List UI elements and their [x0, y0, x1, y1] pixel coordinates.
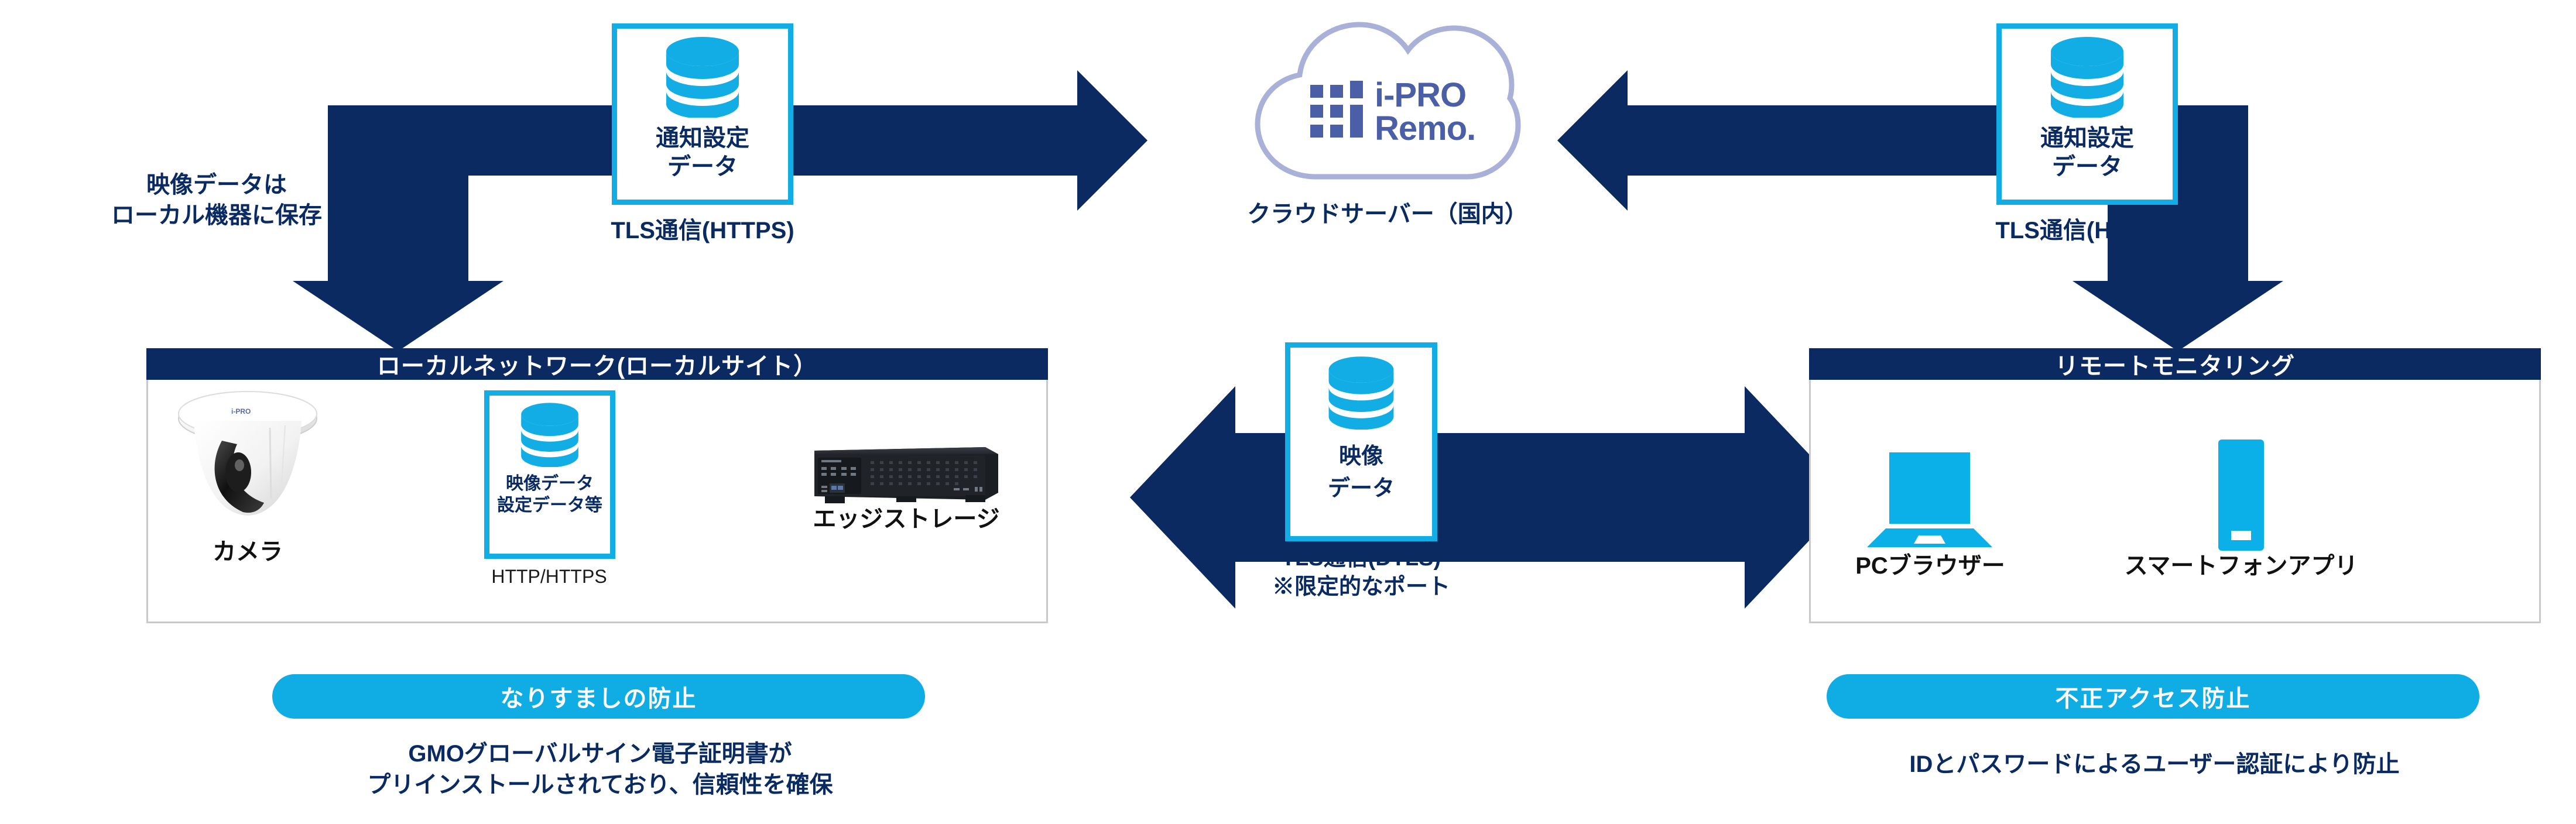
- local-protocol-label: HTTP/HTTPS: [464, 566, 634, 588]
- upstream-protocol-label: TLS通信(HTTPS): [585, 215, 820, 246]
- local-video-data-box[interactable]: 映像データ 設定データ等: [484, 390, 615, 559]
- remote-monitoring-panel: リモートモニタリング PCブラウザー スマートフォンアプリ: [1809, 348, 2541, 623]
- cloud-server-graphic: i-PRO Remo.: [1247, 12, 1522, 199]
- downstream-notify-data-box[interactable]: 通知設定 データ: [1996, 23, 2178, 205]
- local-video-data-label-line1: 映像データ: [497, 473, 602, 495]
- ipro-remo-wordmark: i-PRO Remo.: [1375, 79, 1475, 146]
- edge-storage-label: エッジストレージ: [780, 504, 1032, 534]
- local-storage-note-line2: ローカル機器に保存: [82, 200, 351, 231]
- database-stack-icon: [2049, 36, 2126, 121]
- diagram-canvas: 映像データは ローカル機器に保存 通知設定 データ TLS通信(HTTPS): [0, 0, 2576, 824]
- local-network-panel-body: i-PRO カメラ 映像データ 設定データ等: [146, 380, 1048, 623]
- ptz-dome-camera-icon: i-PRO: [166, 390, 330, 537]
- center-video-data-box[interactable]: 映像 データ: [1285, 342, 1437, 541]
- svg-text:i-PRO: i-PRO: [231, 407, 251, 416]
- local-video-data-label-line2: 設定データ等: [497, 495, 602, 517]
- edge-storage-recorder-icon: [810, 435, 1003, 511]
- camera-label: カメラ: [160, 537, 335, 567]
- database-stack-icon: [519, 401, 580, 470]
- upstream-notify-label-line1: 通知設定: [656, 124, 749, 153]
- spoofing-prevention-note: GMOグローバルサイン電子証明書が プリインストールされており、信頼性を確保: [217, 739, 984, 801]
- ipro-dot-grid-mark: [1310, 81, 1363, 138]
- database-stack-icon: [664, 36, 741, 121]
- laptop-icon: [1862, 450, 1997, 550]
- downstream-notify-label-line2: データ: [2040, 153, 2134, 181]
- center-video-label-line1: 映像: [1328, 441, 1395, 473]
- pc-browser-label: PCブラウザー: [1821, 551, 2039, 581]
- downstream-notify-label-line1: 通知設定: [2040, 124, 2134, 153]
- remote-monitoring-panel-header: リモートモニタリング: [1809, 348, 2541, 380]
- ipro-remo-line2: Remo.: [1375, 112, 1475, 146]
- local-storage-note: 映像データは ローカル機器に保存: [82, 170, 351, 231]
- center-video-label-line2: データ: [1328, 473, 1395, 505]
- local-network-panel: ローカルネットワーク(ローカルサイト）: [146, 348, 1048, 623]
- smartphone-app-label: スマートフォンアプリ: [2089, 551, 2393, 581]
- downstream-protocol-label: TLS通信(HTTPS): [1970, 215, 2204, 246]
- cloud-server-caption: クラウドサーバー（国内）: [1206, 199, 1569, 229]
- spoofing-prevention-note-line1: GMOグローバルサイン電子証明書が: [217, 739, 984, 770]
- upstream-notify-data-box[interactable]: 通知設定 データ: [612, 23, 793, 205]
- center-protocol-label: TLS通信(DTLS) ※限定的なポート: [1218, 544, 1505, 601]
- ipro-remo-line1: i-PRO: [1375, 79, 1475, 112]
- upstream-notify-label-line2: データ: [656, 153, 749, 181]
- local-network-panel-header: ローカルネットワーク(ローカルサイト）: [146, 348, 1048, 380]
- spoofing-prevention-note-line2: プリインストールされており、信頼性を確保: [217, 770, 984, 801]
- center-protocol-line1: TLS通信(DTLS): [1218, 544, 1505, 573]
- unauthorized-access-badge[interactable]: 不正アクセス防止: [1827, 674, 2479, 719]
- center-protocol-line2: ※限定的なポート: [1218, 573, 1505, 602]
- remote-monitoring-panel-body: PCブラウザー スマートフォンアプリ: [1809, 380, 2541, 623]
- unauthorized-access-note: IDとパスワードによるユーザー認証により防止: [1791, 749, 2517, 780]
- smartphone-icon: [2203, 438, 2279, 552]
- local-storage-note-line1: 映像データは: [82, 170, 351, 200]
- spoofing-prevention-badge[interactable]: なりすましの防止: [272, 674, 925, 719]
- database-stack-icon: [1327, 355, 1396, 432]
